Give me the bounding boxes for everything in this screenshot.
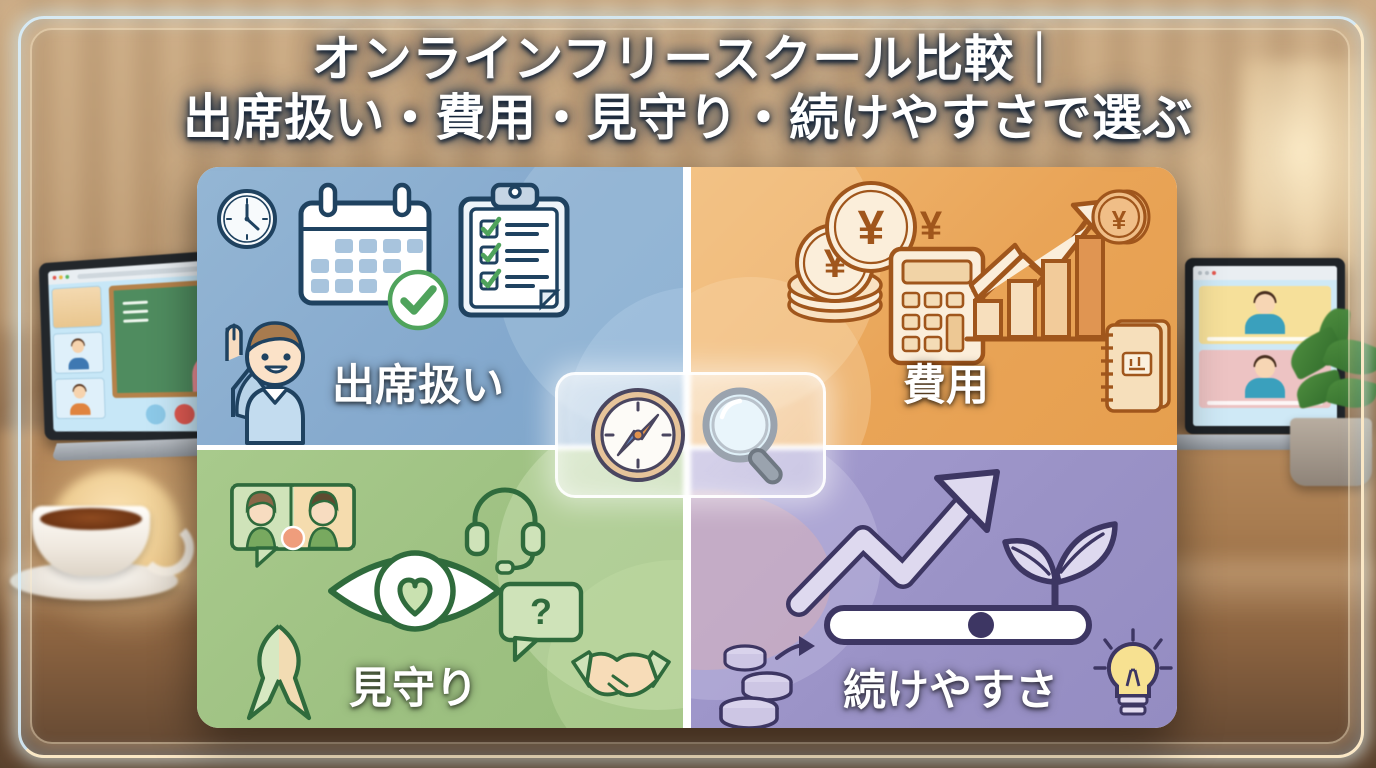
close-icon [1212,271,1216,275]
lightbulb-icon [1087,626,1177,726]
clipboard-checklist-icon [455,183,575,323]
thumbnail-student-1 [53,332,104,374]
handshake-icon [569,640,673,712]
progress-slider-icon[interactable] [823,602,1093,650]
center-badge [555,372,826,498]
yen-coin-corner-icon: ¥ [1089,185,1153,249]
minimize-icon [59,275,63,279]
check-circle-icon [385,267,451,333]
clock-icon [215,187,279,251]
maximize-icon [65,275,69,279]
quadrant-label-continuity: 続けやすさ [843,656,1058,718]
magnifier-icon [696,383,796,487]
window-dot-icon [1198,271,1202,275]
coin-steps-icon [719,630,825,724]
page-title: オンラインフリースクール比較｜ 出席扱い・費用・見守り・続けやすさで選ぶ [0,30,1376,148]
svg-text:¥: ¥ [920,204,943,248]
hangup-icon [174,404,195,424]
poster-canvas: オンラインフリースクール比較｜ 出席扱い・費用・見守り・続けやすさで選ぶ [0,0,1376,768]
cup-handle [138,520,194,576]
quadrant-label-attendance: 出席扱い [332,351,504,413]
page-title-line2: 出席扱い・費用・見守り・続けやすさで選ぶ [0,89,1376,148]
chalk-writing [123,301,148,305]
mic-icon [145,404,165,424]
coffee-cup [18,500,168,598]
svg-text:?: ? [530,591,552,632]
avatar-body [68,357,89,369]
window-dot-icon [1205,271,1209,275]
eye-heart-icon [325,532,505,650]
notebook-icon [1091,315,1175,415]
quadrant-label-cost: 費用 [903,351,989,413]
avatar-body [70,403,91,415]
thumbnail-material [51,285,102,328]
plant-pot [1290,418,1372,486]
avatar [73,386,85,399]
svg-text:¥: ¥ [858,202,885,255]
thumbnail-student-2 [54,378,105,419]
child-raising-hand-icon [203,297,319,445]
browser-titlebar [1193,266,1337,280]
comparison-card: 出席扱い ¥ ¥ ¥ [197,167,1177,728]
compass-icon [586,383,690,487]
participant-thumbnails [48,281,109,431]
potted-plant [1270,300,1376,490]
close-icon [53,276,57,280]
page-title-line1: オンラインフリースクール比較｜ [0,30,1376,89]
awareness-ribbon-icon [233,620,325,724]
tea-surface [40,508,142,530]
svg-text:¥: ¥ [1112,205,1127,235]
quadrant-label-watch: 見守り [349,654,478,716]
avatar [72,340,84,353]
